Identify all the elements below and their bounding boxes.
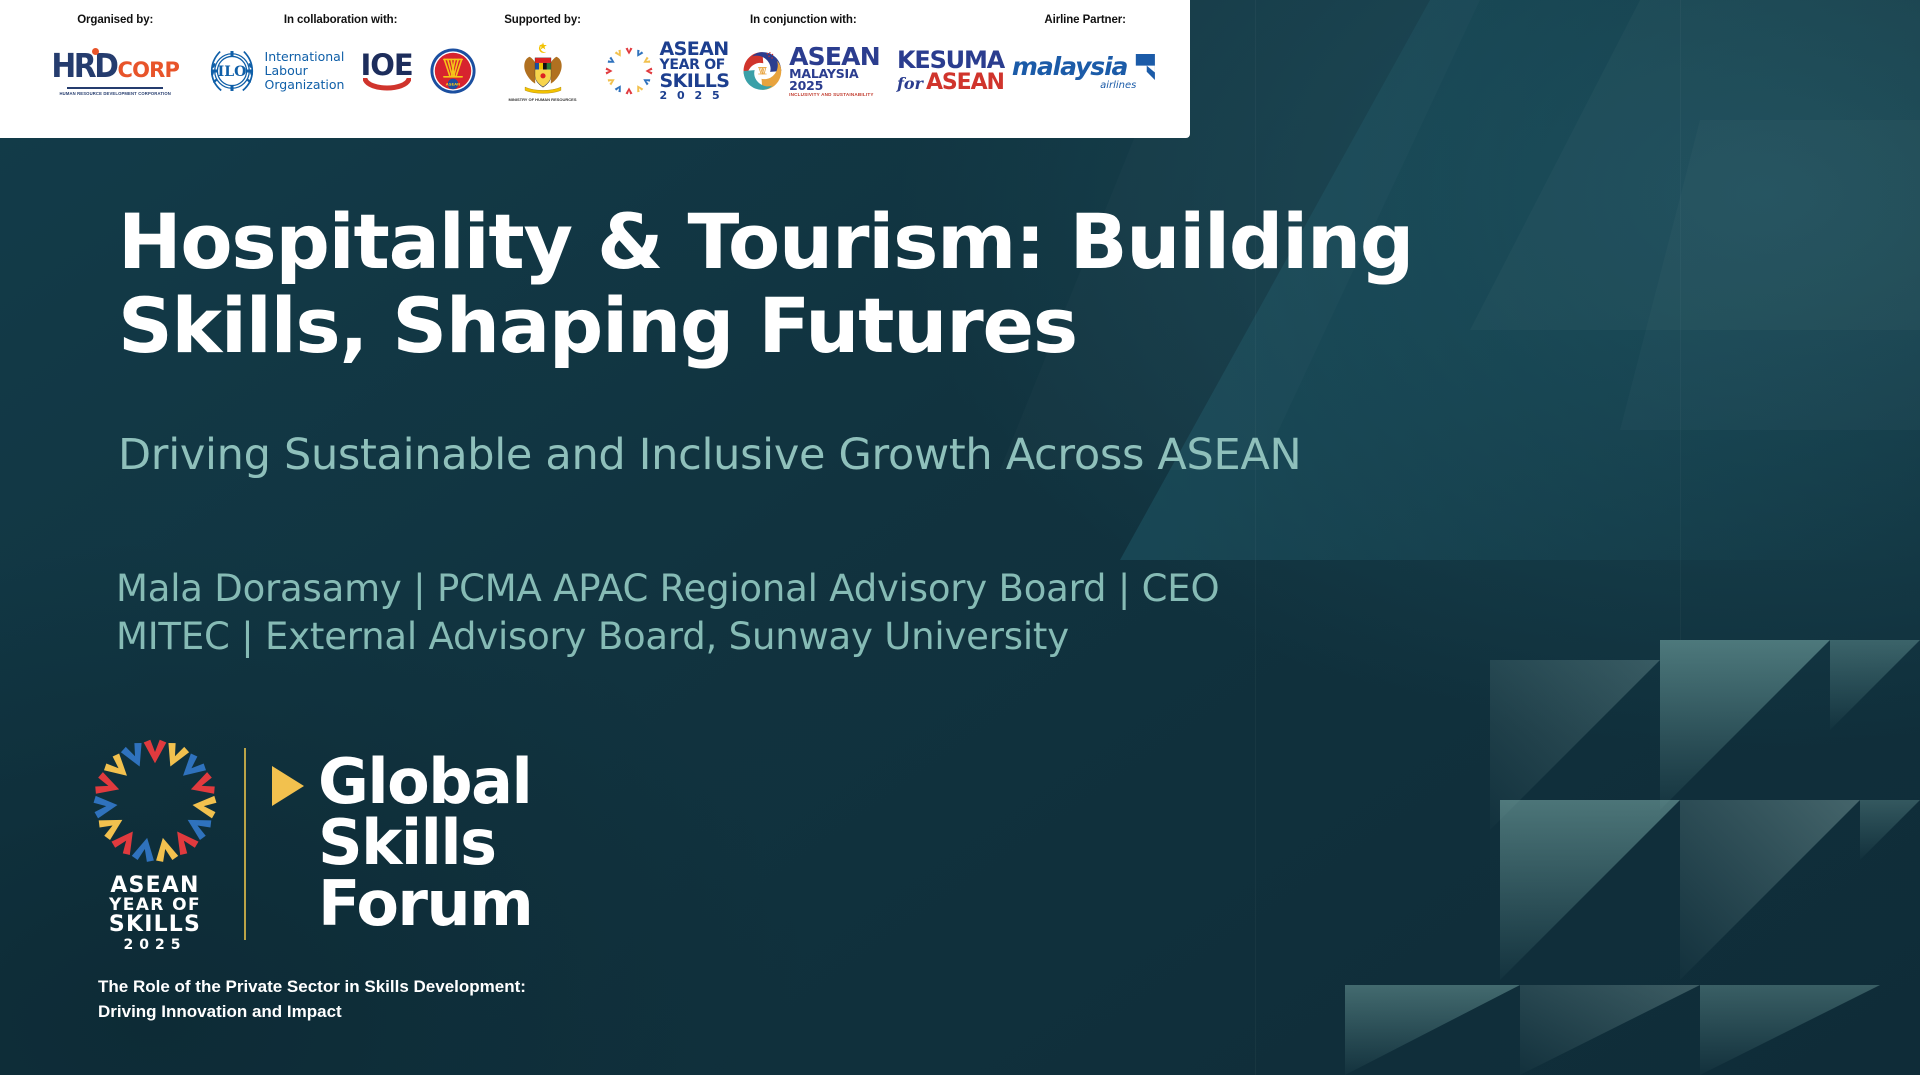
presentation-slide: Organised by: HRD CORP HUMAN RESOURCE DE… bbox=[0, 0, 1920, 1075]
play-arrow-icon bbox=[272, 766, 304, 806]
footnote-line-2: Driving Innovation and Impact bbox=[98, 1000, 526, 1025]
ayos-badge-wordmark: ASEAN YEAR OF SKILLS 2025 bbox=[109, 875, 201, 952]
global-skills-forum-wordmark: Global Skills Forum bbox=[318, 752, 532, 934]
gsf-line-1: Global bbox=[318, 752, 532, 813]
page-title: Hospitality & Tourism: Building Skills, … bbox=[118, 200, 1518, 369]
global-skills-forum-logo: Global Skills Forum bbox=[272, 752, 532, 934]
ayos-badge-line-4: 2025 bbox=[109, 938, 201, 952]
event-logo-lockup: ASEAN YEAR OF SKILLS 2025 Global Skills … bbox=[90, 735, 532, 952]
lockup-divider bbox=[244, 748, 246, 940]
ayos-badge-line-1: ASEAN bbox=[109, 875, 201, 897]
ayos-badge-starburst-icon bbox=[89, 735, 221, 867]
footnote-line-1: The Role of the Private Sector in Skills… bbox=[98, 975, 526, 1000]
speaker-credit-line-2: MITEC | External Advisory Board, Sunway … bbox=[116, 613, 1676, 661]
ayos-badge-line-3: SKILLS bbox=[109, 914, 201, 936]
speaker-credit: Mala Dorasamy | PCMA APAC Regional Advis… bbox=[116, 565, 1676, 662]
page-title-line-1: Hospitality & Tourism: Building bbox=[118, 200, 1518, 284]
slide-footnote: The Role of the Private Sector in Skills… bbox=[98, 975, 526, 1024]
speaker-credit-line-1: Mala Dorasamy | PCMA APAC Regional Advis… bbox=[116, 565, 1676, 613]
slide-content: Hospitality & Tourism: Building Skills, … bbox=[0, 0, 1920, 1075]
page-title-line-2: Skills, Shaping Futures bbox=[118, 284, 1518, 368]
page-subtitle: Driving Sustainable and Inclusive Growth… bbox=[118, 430, 1678, 482]
gsf-line-3: Forum bbox=[318, 874, 532, 935]
gsf-line-2: Skills bbox=[318, 813, 532, 874]
asean-year-of-skills-badge: ASEAN YEAR OF SKILLS 2025 bbox=[90, 735, 220, 952]
